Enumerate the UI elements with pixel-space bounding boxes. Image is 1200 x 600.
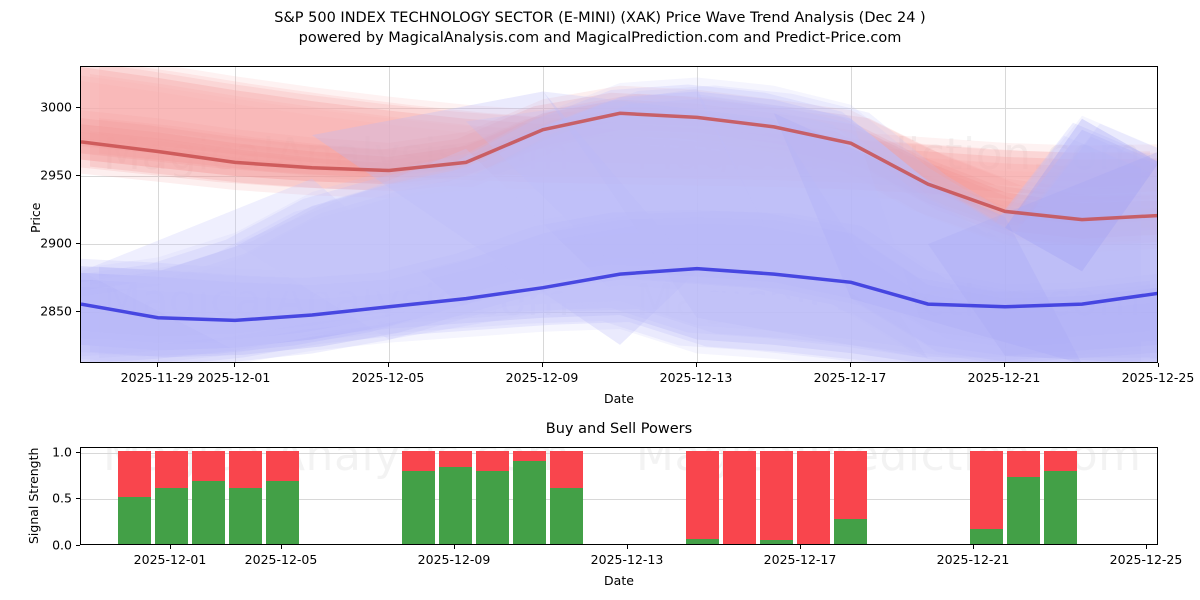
tick-y — [76, 175, 80, 176]
bar-buy-power — [266, 481, 299, 544]
tick-y — [76, 452, 80, 453]
ticklabel-y: 0.5 — [36, 491, 72, 506]
bar-buy-power — [760, 540, 793, 544]
ticklabel-x: 2025-12-17 — [814, 370, 887, 385]
bar-buy-power — [834, 519, 867, 544]
bar-buy-power — [513, 461, 546, 544]
tick-x — [973, 545, 974, 549]
tick-x — [234, 363, 235, 367]
tick-x — [1004, 363, 1005, 367]
bar-sell-power — [550, 451, 583, 488]
price-xaxis-title: Date — [80, 391, 1158, 406]
tick-y — [76, 311, 80, 312]
price-yaxis-title: Price — [28, 202, 43, 233]
tick-x — [542, 363, 543, 367]
tick-x — [696, 363, 697, 367]
ticklabel-x: 2025-12-09 — [506, 370, 579, 385]
tick-x — [170, 545, 171, 549]
ticklabel-y: 2950 — [34, 167, 72, 182]
ticklabel-x: 2025-12-01 — [134, 552, 207, 567]
bar-buy-power — [1007, 477, 1040, 544]
tick-y — [76, 243, 80, 244]
ticklabel-x: 2025-12-13 — [591, 552, 664, 567]
bar-sell-power — [229, 451, 262, 488]
bar-sell-power — [192, 451, 225, 482]
bar-sell-power — [723, 451, 756, 544]
tick-x — [850, 363, 851, 367]
bar-buy-power — [1044, 471, 1077, 544]
tick-x — [388, 363, 389, 367]
ticklabel-y: 1.0 — [36, 444, 72, 459]
bar-sell-power — [1007, 451, 1040, 477]
ticklabel-x: 2025-12-09 — [418, 552, 491, 567]
tick-x — [157, 363, 158, 367]
ticklabel-x: 2025-12-21 — [968, 370, 1041, 385]
bar-sell-power — [970, 451, 1003, 529]
bar-sell-power — [266, 451, 299, 482]
ticklabel-x: 2025-12-01 — [198, 370, 271, 385]
bar-sell-power — [797, 451, 830, 544]
ticklabel-y: 3000 — [34, 99, 72, 114]
tick-x — [1146, 545, 1147, 549]
tick-x — [1158, 363, 1159, 367]
page-title-line-1: S&P 500 INDEX TECHNOLOGY SECTOR (E-MINI)… — [0, 8, 1200, 28]
ticklabel-x: 2025-12-25 — [1110, 552, 1183, 567]
ticklabel-x: 2025-12-25 — [1122, 370, 1195, 385]
bar-buy-power — [476, 471, 509, 544]
bar-buy-power — [550, 488, 583, 544]
power-chart-title: Buy and Sell Powers — [546, 421, 692, 437]
bar-sell-power — [155, 451, 188, 488]
bar-buy-power — [402, 471, 435, 544]
tick-y — [76, 498, 80, 499]
bar-sell-power — [439, 451, 472, 467]
bar-buy-power — [118, 497, 151, 544]
ticklabel-x: 2025-12-17 — [764, 552, 837, 567]
tick-y — [76, 545, 80, 546]
ticklabel-y: 0.0 — [36, 538, 72, 553]
power-chart-axes: MagicalAnalysis.comMagicalPrediction.com — [80, 447, 1158, 545]
bar-sell-power — [513, 451, 546, 461]
bar-sell-power — [118, 451, 151, 498]
tick-x — [627, 545, 628, 549]
bar-buy-power — [686, 539, 719, 544]
bar-sell-power — [402, 451, 435, 472]
tick-x — [800, 545, 801, 549]
price-chart-axes: MagicalAnalysis.comMagicalPrediction.com… — [80, 66, 1158, 363]
chart-title-block: S&P 500 INDEX TECHNOLOGY SECTOR (E-MINI)… — [0, 8, 1200, 48]
bar-sell-power — [1044, 451, 1077, 472]
bar-buy-power — [155, 488, 188, 544]
page-title-line-2: powered by MagicalAnalysis.com and Magic… — [0, 28, 1200, 48]
bar-sell-power — [476, 451, 509, 472]
ticklabel-x: 2025-12-13 — [660, 370, 733, 385]
tick-x — [454, 545, 455, 549]
power-xaxis-title: Date — [80, 573, 1158, 588]
ticklabel-y: 2850 — [34, 304, 72, 319]
ticklabel-x: 2025-11-29 — [121, 370, 194, 385]
ticklabel-x: 2025-12-05 — [352, 370, 425, 385]
price-wave-layer — [81, 67, 1158, 363]
ticklabel-x: 2025-12-21 — [937, 552, 1010, 567]
bar-buy-power — [970, 529, 1003, 544]
ticklabel-y: 2900 — [34, 236, 72, 251]
chart-page: S&P 500 INDEX TECHNOLOGY SECTOR (E-MINI)… — [0, 0, 1200, 600]
power-yaxis-title: Signal Strength — [26, 448, 41, 544]
bar-sell-power — [834, 451, 867, 519]
tick-x — [281, 545, 282, 549]
bar-buy-power — [229, 488, 262, 544]
ticklabel-x: 2025-12-05 — [245, 552, 318, 567]
bar-buy-power — [439, 467, 472, 544]
bar-sell-power — [686, 451, 719, 540]
bar-sell-power — [760, 451, 793, 541]
bar-buy-power — [192, 481, 225, 544]
tick-y — [76, 107, 80, 108]
